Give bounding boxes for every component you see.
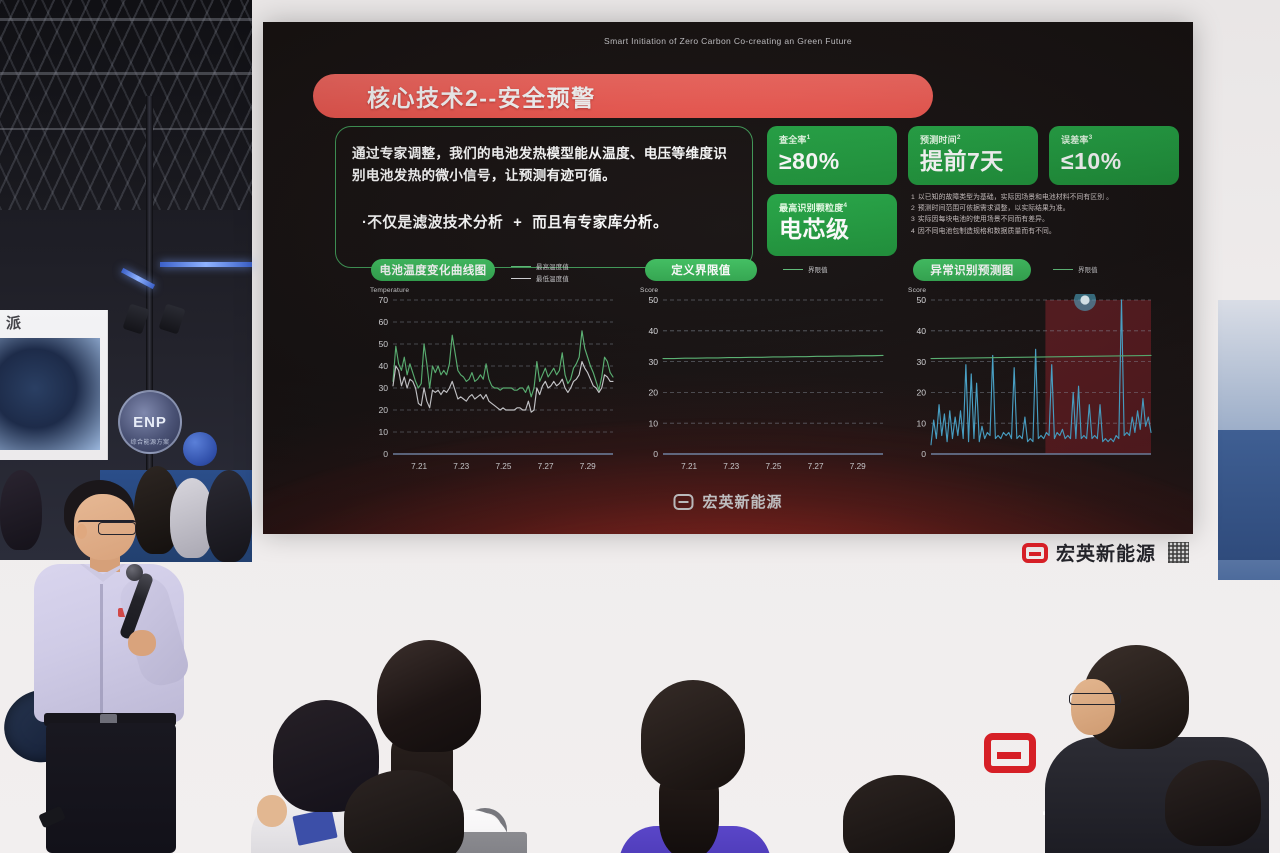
- audience-head: [344, 770, 464, 853]
- svg-text:7.25: 7.25: [495, 462, 511, 471]
- svg-text:30: 30: [378, 383, 388, 393]
- spotlight-fixture: [158, 304, 185, 335]
- wall-brand-logo: 宏英新能源: [1022, 539, 1189, 566]
- svg-text:50: 50: [648, 295, 658, 305]
- svg-text:7.27: 7.27: [808, 462, 824, 471]
- text-card-paragraph: 通过专家调整，我们的电池发热模型能从温度、电压等维度识别电池发热的微小信号，让预…: [352, 143, 738, 187]
- neighbor-booth-label: 派: [6, 312, 22, 333]
- wall-brand-name: 宏英新能源: [1056, 539, 1156, 566]
- qr-code-icon: [1168, 542, 1189, 563]
- bullet-left: ·不仅是滤波技术分析: [362, 215, 503, 231]
- bullet-plus: +: [513, 215, 522, 231]
- svg-text:7.27: 7.27: [538, 462, 554, 471]
- chart-title-anomaly-prediction: 异常识别预测图: [913, 259, 1031, 281]
- glasses-icon: [78, 520, 136, 531]
- svg-text:30: 30: [648, 357, 658, 367]
- svg-text:7.21: 7.21: [411, 462, 427, 471]
- svg-text:20: 20: [378, 405, 388, 415]
- slide-title: 核心技术2--安全预警: [367, 79, 596, 113]
- svg-text:0: 0: [921, 449, 926, 459]
- footnote-item: 1以已知的故障类型为基础，实际因场景和电池材料不同有区别 。: [911, 192, 1181, 203]
- glasses-icon: [1069, 693, 1121, 705]
- footnote-item: 3实际因每块电池的使用场景不同而有差异。: [911, 214, 1181, 225]
- stat-label: 预测时间2: [920, 133, 1026, 146]
- svg-text:7.29: 7.29: [850, 462, 866, 471]
- svg-text:20: 20: [916, 388, 926, 398]
- slide-footnotes: 1以已知的故障类型为基础，实际因场景和电池材料不同有区别 。 2预测时间范围可依…: [911, 192, 1181, 237]
- slide-text-card: 通过专家调整，我们的电池发热模型能从温度、电压等维度识别电池发热的微小信号，让预…: [335, 126, 753, 268]
- chart-ylabel-3: Score: [908, 287, 926, 294]
- chart-plot-threshold: 010203040507.217.237.257.277.29: [639, 294, 887, 476]
- svg-text:20: 20: [648, 388, 658, 398]
- slide-kicker-text: Smart Initiation of Zero Carbon Co-creat…: [263, 36, 1193, 46]
- legend-item: 最低温度值: [511, 274, 569, 283]
- svg-text:60: 60: [378, 317, 388, 327]
- stat-card-lead-time: 预测时间2 提前7天: [908, 126, 1038, 185]
- neighbor-booth-logo-text: ENP: [133, 414, 167, 431]
- hongying-logo-icon: [1022, 543, 1048, 563]
- audience-member-purple-jacket: [615, 680, 775, 853]
- truss-beam: [0, 18, 252, 21]
- svg-text:7.21: 7.21: [681, 462, 697, 471]
- chart-legend-1: 最高温度值 最低温度值: [511, 262, 569, 283]
- slide-brand-footer: 宏英新能源: [673, 491, 782, 512]
- slide-title-pill: 核心技术2--安全预警: [313, 74, 933, 118]
- chart-title-threshold: 定义界限值: [645, 259, 757, 281]
- chart-legend-3: 界限值: [1053, 265, 1098, 274]
- hongying-logo-icon: [673, 494, 693, 510]
- audience-member-front-center-left: [330, 770, 500, 853]
- svg-text:30: 30: [916, 357, 926, 367]
- audience-head: [1165, 760, 1261, 846]
- audience-member-front-center-right: [835, 775, 975, 853]
- legend-item: 最高温度值: [511, 262, 569, 271]
- footnote-item: 2预测时间范围可依据需求调整，以实际结果为准。: [911, 203, 1181, 214]
- svg-text:7.23: 7.23: [723, 462, 739, 471]
- exhibition-hall-right-floor: [1218, 430, 1280, 560]
- presenter-trousers: [46, 723, 176, 853]
- svg-text:40: 40: [648, 326, 658, 336]
- bullet-right: 而且有专家库分析。: [532, 215, 668, 231]
- chart-legend-2: 界限值: [783, 265, 828, 274]
- stat-label: 查全率1: [779, 133, 885, 146]
- audience-hand: [257, 795, 287, 827]
- svg-text:7.29: 7.29: [580, 462, 596, 471]
- booth-light-strip: [160, 262, 252, 267]
- stat-value: 提前7天: [920, 148, 1026, 174]
- svg-text:0: 0: [653, 449, 658, 459]
- legend-item: 界限值: [783, 265, 828, 274]
- chart-ylabel-2: Score: [640, 287, 658, 294]
- truss-beam: [0, 72, 252, 75]
- audience-face: [1071, 679, 1115, 735]
- exhibition-presentation-photo: ENP 综合能源方案 派 Smart Initiation of Zero Ca…: [0, 0, 1280, 853]
- microphone-head-icon: [126, 564, 143, 581]
- chart-plot-temperature-curve: 0102030405060707.217.237.257.277.29: [369, 294, 617, 476]
- stat-value: ≤10%: [1061, 148, 1167, 174]
- stat-label: 最高识别颗粒度4: [779, 201, 885, 214]
- neighbor-booth-sublabel: 综合能源方案: [122, 437, 178, 446]
- svg-text:0: 0: [383, 449, 388, 459]
- audience-head: [843, 775, 955, 853]
- footnote-item: 4因不同电池包制造规格和数据质量而有不同。: [911, 226, 1181, 237]
- stat-card-error-rate: 误差率3 ≤10%: [1049, 126, 1179, 185]
- audience-head: [641, 680, 745, 790]
- svg-text:7.23: 7.23: [453, 462, 469, 471]
- presenter-person: [34, 480, 224, 853]
- svg-text:40: 40: [378, 361, 388, 371]
- svg-text:10: 10: [648, 418, 658, 428]
- ceiling-truss-rig: [0, 0, 252, 210]
- audience-member-far-right: [1165, 760, 1280, 853]
- svg-text:10: 10: [378, 427, 388, 437]
- presenter-shirt-placket: [100, 584, 103, 714]
- chart-ylabel-1: Temperature: [370, 287, 409, 294]
- stat-card-recall: 查全率1 ≥80%: [767, 126, 897, 185]
- booth-decor-orb: [183, 432, 217, 466]
- svg-text:70: 70: [378, 295, 388, 305]
- svg-text:10: 10: [916, 418, 926, 428]
- stat-value: ≥80%: [779, 148, 885, 174]
- stat-value: 电芯级: [779, 216, 885, 242]
- presenter-hand: [128, 630, 156, 656]
- chart-title-temperature-curve: 电池温度变化曲线图: [371, 259, 495, 281]
- svg-text:7.25: 7.25: [765, 462, 781, 471]
- stat-label: 误差率3: [1061, 133, 1167, 146]
- svg-text:50: 50: [916, 295, 926, 305]
- text-card-bullet: ·不仅是滤波技术分析+而且有专家库分析。: [362, 211, 738, 232]
- truss-beam: [0, 128, 252, 130]
- chart-plot-anomaly-prediction: 01020304050: [907, 294, 1155, 476]
- neighbor-booth-display: [0, 338, 100, 450]
- stat-card-granularity: 最高识别颗粒度4 电芯级: [767, 194, 897, 256]
- svg-text:50: 50: [378, 339, 388, 349]
- hongying-logo-icon-large: [984, 733, 1036, 773]
- svg-text:40: 40: [916, 326, 926, 336]
- exhibition-hall-left-background: ENP 综合能源方案: [0, 0, 252, 560]
- projection-slide: Smart Initiation of Zero Carbon Co-creat…: [263, 22, 1193, 534]
- legend-item: 界限值: [1053, 265, 1098, 274]
- slide-brand-name: 宏英新能源: [702, 491, 782, 512]
